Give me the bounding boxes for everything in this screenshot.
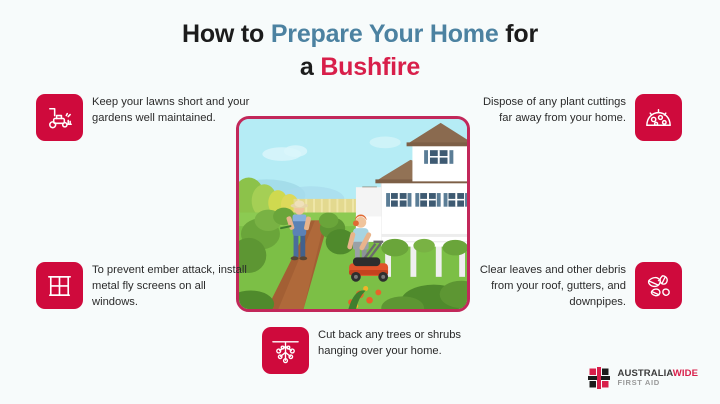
tip-text: Keep your lawns short and your gardens w…	[92, 94, 251, 126]
illustration-frame	[236, 116, 470, 312]
leaves-icon-box	[635, 262, 682, 309]
leaves-icon	[643, 270, 674, 301]
lawn-mower-icon-box	[36, 94, 83, 141]
window-icon-box	[36, 262, 83, 309]
title-segment-plain-2: for	[499, 20, 538, 48]
tip-cut-back-trees: Cut back any trees or shrubs hanging ove…	[262, 327, 492, 374]
tree-branches-icon	[270, 335, 301, 366]
brand-name-part2: WIDE	[673, 368, 698, 379]
title-segment-highlight-blue: Prepare Your Home	[271, 20, 499, 48]
house-yard-maintenance-illustration	[239, 119, 467, 310]
lawn-mower-icon	[44, 102, 75, 133]
tip-text: Cut back any trees or shrubs hanging ove…	[318, 327, 492, 359]
brand-tagline: FIRST AID	[618, 379, 698, 387]
australia-wide-first-aid-cross-icon	[587, 366, 611, 390]
title-segment-highlight-red: Bushfire	[320, 53, 420, 81]
infographic-canvas: How to Prepare Your Home for a Bushfire	[0, 0, 720, 404]
title-segment-plain-1: How to	[182, 20, 271, 48]
plant-cuttings-pile-icon-box	[635, 94, 682, 141]
title-line-1: How to Prepare Your Home for	[0, 18, 720, 51]
page-title: How to Prepare Your Home for a Bushfire	[0, 18, 720, 84]
tip-text: Clear leaves and other debris from your …	[470, 262, 626, 310]
tip-install-fly-screens: To prevent ember attack, install metal f…	[36, 262, 251, 310]
tree-branches-icon-box	[262, 327, 309, 374]
plant-cuttings-pile-icon	[643, 102, 674, 133]
tip-text: To prevent ember attack, install metal f…	[92, 262, 251, 310]
tip-keep-lawns-short: Keep your lawns short and your gardens w…	[36, 94, 251, 141]
window-icon	[44, 270, 75, 301]
tip-clear-leaves-gutters: Clear leaves and other debris from your …	[470, 262, 682, 310]
brand-logo-text: AUSTRALIAWIDE FIRST AID	[618, 369, 698, 387]
tip-text: Dispose of any plant cuttings far away f…	[470, 94, 626, 126]
brand-logo: AUSTRALIAWIDE FIRST AID	[587, 366, 698, 390]
title-line-2: a Bushfire	[0, 51, 720, 84]
tip-dispose-plant-cuttings: Dispose of any plant cuttings far away f…	[470, 94, 682, 141]
title-segment-plain-3: a	[300, 53, 320, 81]
